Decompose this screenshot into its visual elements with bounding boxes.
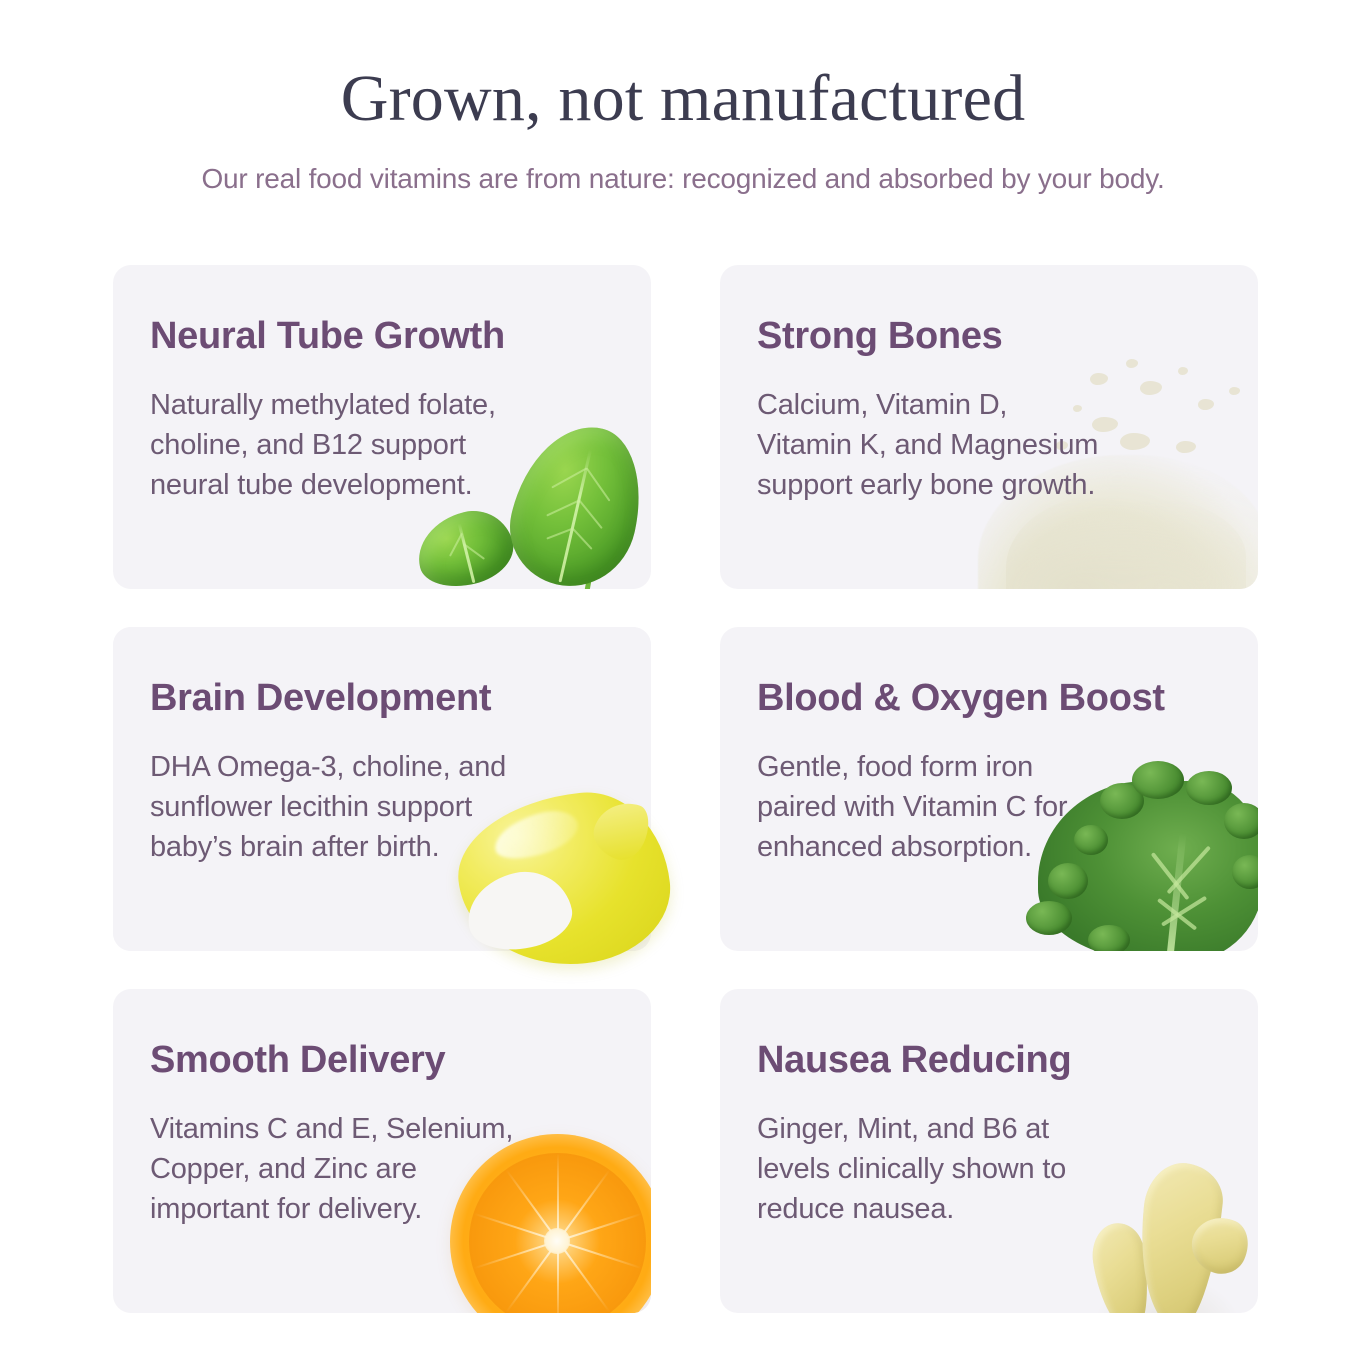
leaf-vein <box>546 527 573 539</box>
spinach-stem <box>581 577 592 589</box>
orange-segment-line <box>506 1241 559 1313</box>
benefit-card-grid: Neural Tube Growth Naturally methylated … <box>113 265 1258 1313</box>
page-title: Grown, not manufactured <box>0 66 1366 132</box>
card-body: Gentle, food form iron paired with Vitam… <box>757 747 1218 867</box>
leaf-vein <box>457 523 475 582</box>
card-heading: Blood & Oxygen Boost <box>757 679 1218 719</box>
page-subtitle: Our real food vitamins are from nature: … <box>0 162 1366 196</box>
benefit-card-brain-development[interactable]: Brain Development DHA Omega-3, choline, … <box>113 627 651 951</box>
leaf-vein <box>449 533 463 557</box>
card-body: Calcium, Vitamin D, Vitamin K, and Magne… <box>757 385 1218 505</box>
card-heading: Smooth Delivery <box>150 1041 611 1081</box>
card-body: DHA Omega-3, choline, and sunflower leci… <box>150 747 611 867</box>
kale-rib <box>1161 896 1207 927</box>
card-body: Naturally methylated folate, choline, an… <box>150 385 611 505</box>
ginger-thumb <box>1088 1220 1157 1313</box>
spinach-leaf-small <box>410 502 521 589</box>
benefit-card-smooth-delivery[interactable]: Smooth Delivery Vitamins C and E, Seleni… <box>113 989 651 1313</box>
page-header: Grown, not manufactured Our real food vi… <box>0 0 1366 196</box>
benefit-card-blood-oxygen-boost[interactable]: Blood & Oxygen Boost Gentle, food form i… <box>720 627 1258 951</box>
kale-curl <box>1224 803 1258 839</box>
ginger-shadow <box>1092 1275 1242 1313</box>
benefit-card-nausea-reducing[interactable]: Nausea Reducing Ginger, Mint, and B6 at … <box>720 989 1258 1313</box>
card-heading: Brain Development <box>150 679 611 719</box>
powder-speck <box>1178 367 1188 375</box>
benefits-infographic: Grown, not manufactured Our real food vi… <box>0 0 1366 1366</box>
kale-curl <box>1232 855 1258 889</box>
powder-speck <box>1090 373 1108 385</box>
kale-curl <box>1048 863 1088 899</box>
orange-core <box>544 1228 570 1254</box>
card-body: Ginger, Mint, and B6 at levels clinicall… <box>757 1109 1218 1229</box>
kale-curl <box>1026 901 1072 935</box>
leaf-vein <box>464 544 485 560</box>
powder-speck <box>1229 387 1240 395</box>
card-heading: Strong Bones <box>757 317 1218 357</box>
orange-segment-line <box>558 1241 611 1313</box>
kale-curl <box>1088 925 1130 951</box>
orange-segment-line <box>474 1241 558 1270</box>
powder-ridge <box>1006 493 1246 589</box>
benefit-card-neural-tube-growth[interactable]: Neural Tube Growth Naturally methylated … <box>113 265 651 589</box>
leaf-vein <box>572 528 593 550</box>
card-heading: Nausea Reducing <box>757 1041 1218 1081</box>
card-heading: Neural Tube Growth <box>150 317 611 357</box>
orange-segment-line <box>557 1241 559 1313</box>
orange-segment-line <box>558 1241 642 1270</box>
kale-rib <box>1157 898 1197 931</box>
card-body: Vitamins C and E, Selenium, Copper, and … <box>150 1109 611 1229</box>
powder-speck <box>1126 359 1138 368</box>
benefit-card-strong-bones[interactable]: Strong Bones Calcium, Vitamin D, Vitamin… <box>720 265 1258 589</box>
